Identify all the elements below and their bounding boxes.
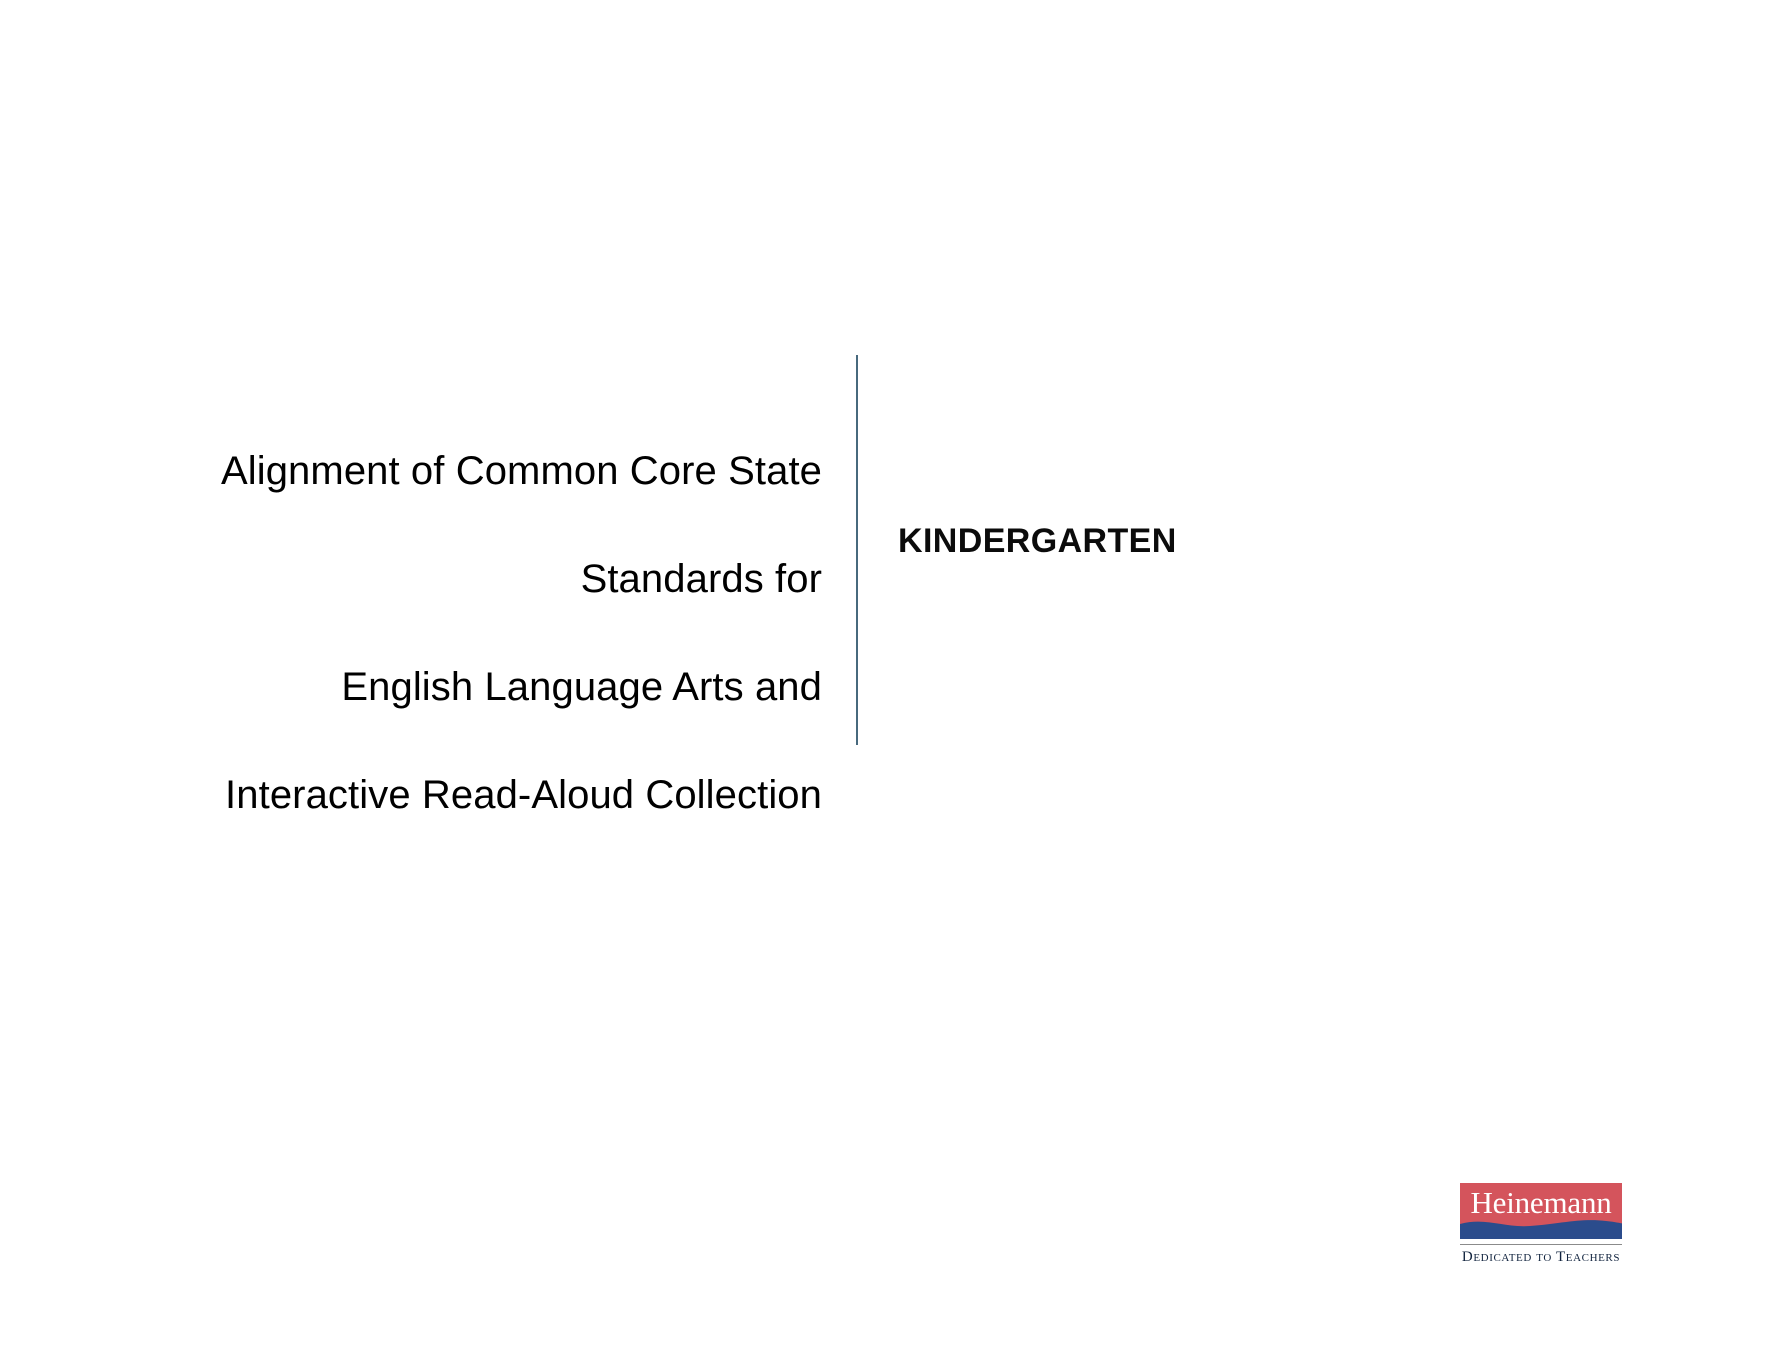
page-title: Alignment of Common Core State Standards… [150,390,822,876]
logo-wordmark: Heinemann [1460,1183,1622,1223]
logo-tagline: Dedicated to Teachers [1460,1249,1622,1266]
logo-mark: Heinemann [1460,1183,1622,1239]
heinemann-logo: Heinemann Dedicated to Teachers [1460,1183,1622,1266]
vertical-divider [856,355,858,745]
logo-divider-rule [1460,1244,1622,1245]
title-line-1: Alignment of Common Core State [150,444,822,498]
title-line-2: Standards for [150,552,822,606]
title-line-3: English Language Arts and [150,660,822,714]
grade-level-label: KINDERGARTEN [898,522,1177,561]
slide-canvas: Alignment of Common Core State Standards… [0,0,1767,1353]
title-line-4: Interactive Read-Aloud Collection [150,768,822,822]
